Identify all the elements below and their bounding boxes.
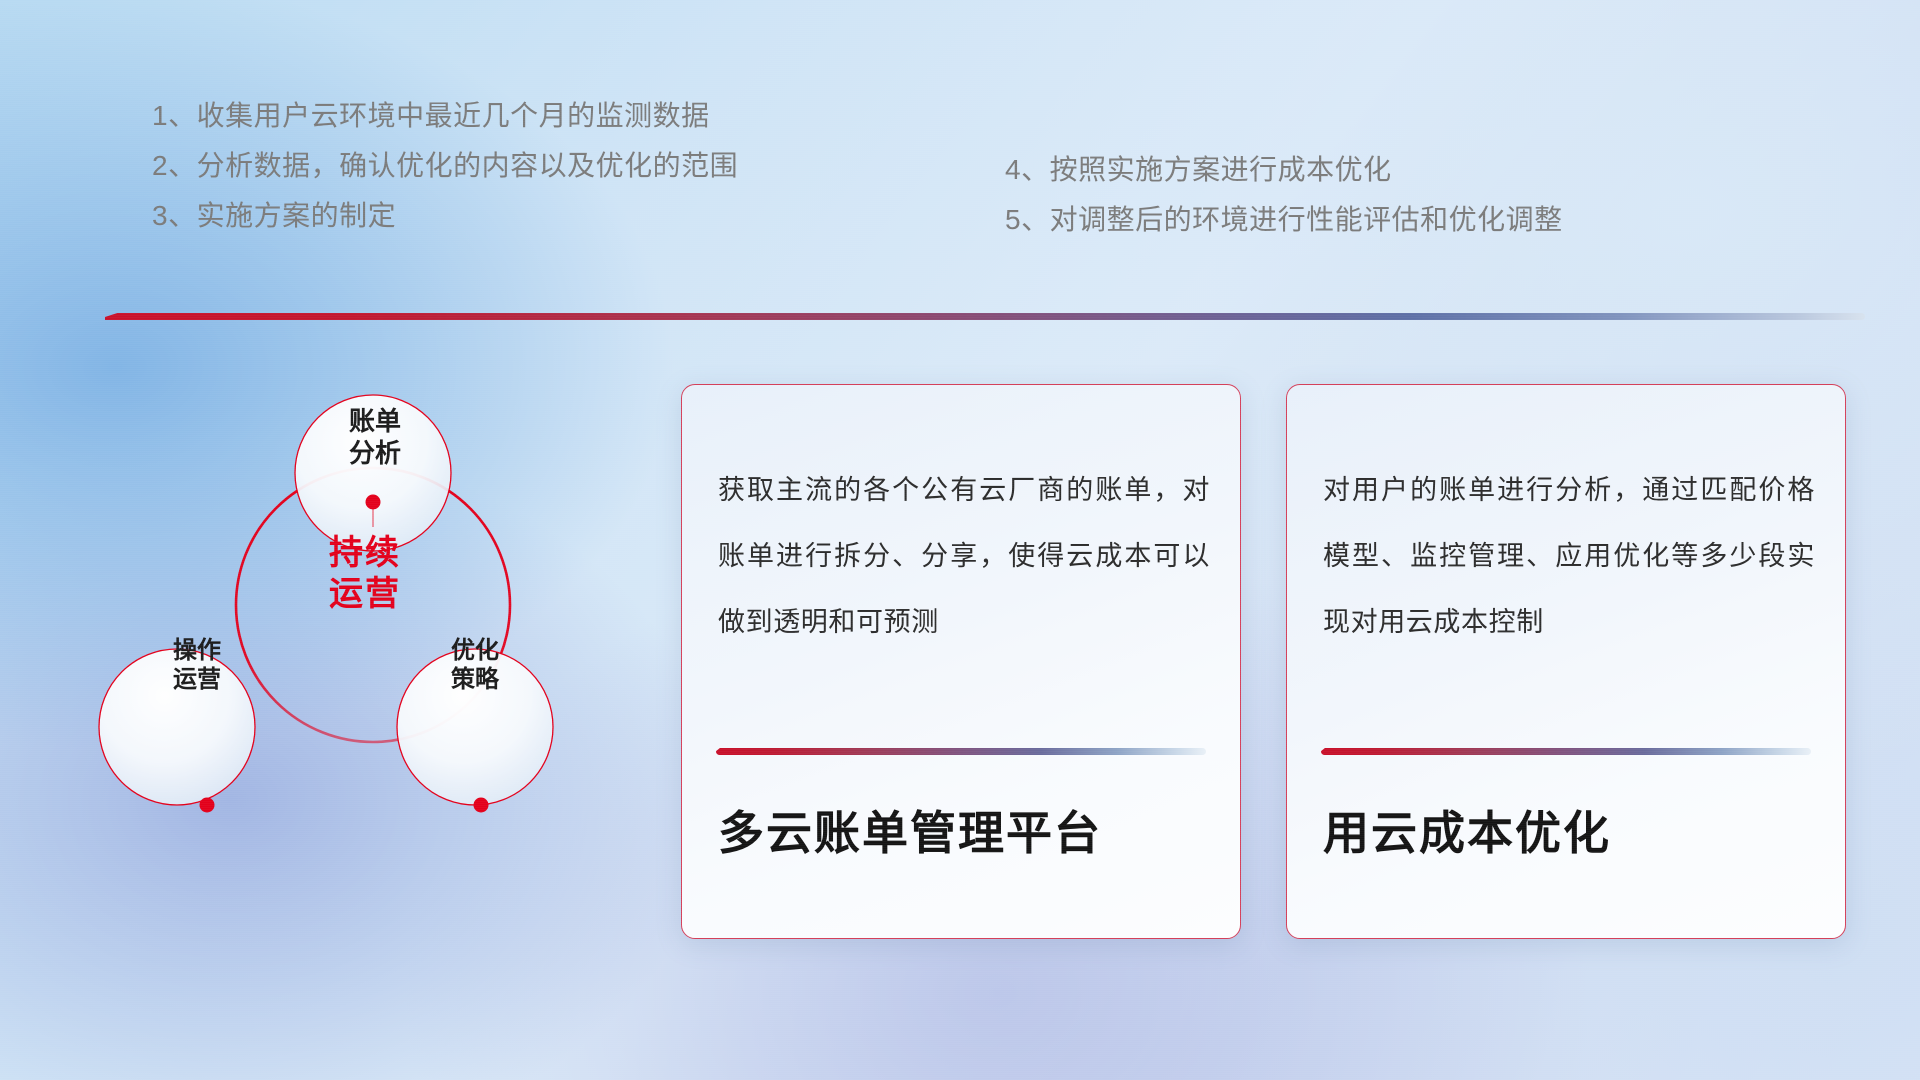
venn-label-left: 操作 运营 <box>117 636 277 695</box>
step-item-5: 5、对调整后的环境进行性能评估和优化调整 <box>1005 206 1563 234</box>
step-item-4: 4、按照实施方案进行成本优化 <box>1005 156 1563 184</box>
venn-label-right-line1: 优化 <box>395 636 555 665</box>
venn-label-left-line2: 运营 <box>117 665 277 694</box>
venn-center-label-line2: 运营 <box>240 574 490 615</box>
step-item-2: 2、分析数据，确认优化的内容以及优化的范围 <box>152 152 738 180</box>
card-divider-bar <box>716 748 1206 755</box>
step-item-3: 3、实施方案的制定 <box>152 202 738 230</box>
card-title: 多云账单管理平台 <box>718 797 1216 863</box>
venn-label-left-line1: 操作 <box>117 636 277 665</box>
card-body-text: 获取主流的各个公有云厂商的账单，对账单进行拆分、分享，使得云成本可以做到透明和可… <box>718 457 1210 655</box>
venn-label-top-line2: 分析 <box>295 438 455 470</box>
card-body-text: 对用户的账单进行分析，通过匹配价格模型、监控管理、应用优化等多少段实现对用云成本… <box>1323 457 1815 655</box>
venn-center-label: 持续 运营 <box>240 533 490 616</box>
info-card-cost-optimization[interactable]: 对用户的账单进行分析，通过匹配价格模型、监控管理、应用优化等多少段实现对用云成本… <box>1286 384 1846 939</box>
steps-right-column: 4、按照实施方案进行成本优化 5、对调整后的环境进行性能评估和优化调整 <box>1005 156 1563 234</box>
venn-node-dot-right <box>474 798 489 813</box>
section-divider-bar <box>105 313 1865 320</box>
venn-center-label-line1: 持续 <box>240 533 490 574</box>
venn-label-right: 优化 策略 <box>395 636 555 695</box>
venn-diagram: 账单 分析 操作 运营 优化 策略 持续 运营 <box>95 355 635 925</box>
steps-left-column: 1、收集用户云环境中最近几个月的监测数据 2、分析数据，确认优化的内容以及优化的… <box>152 102 738 230</box>
venn-label-right-line2: 策略 <box>395 665 555 694</box>
venn-label-top-line1: 账单 <box>295 406 455 438</box>
step-item-1: 1、收集用户云环境中最近几个月的监测数据 <box>152 102 738 130</box>
card-divider-bar <box>1321 748 1811 755</box>
venn-node-dot-left <box>200 798 215 813</box>
venn-label-top: 账单 分析 <box>295 406 455 469</box>
card-title: 用云成本优化 <box>1323 797 1821 863</box>
slide-canvas: 1、收集用户云环境中最近几个月的监测数据 2、分析数据，确认优化的内容以及优化的… <box>0 0 1920 1080</box>
info-card-multicloud-billing[interactable]: 获取主流的各个公有云厂商的账单，对账单进行拆分、分享，使得云成本可以做到透明和可… <box>681 384 1241 939</box>
